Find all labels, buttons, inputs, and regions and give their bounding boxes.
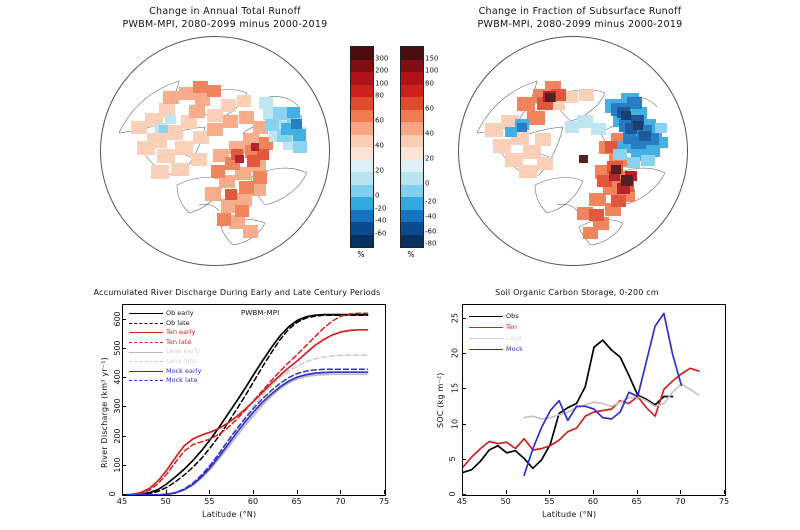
- colorbar-segment: [351, 135, 373, 148]
- cbtick: 80: [375, 93, 384, 100]
- ytick-mark: [462, 494, 466, 495]
- cbtick: -20: [375, 205, 386, 212]
- xaxis-label-soc: Latitude (°N): [542, 510, 596, 519]
- xtick-mark: [593, 490, 594, 494]
- xtick-mark: [549, 490, 550, 494]
- xtick-mark: [384, 490, 385, 494]
- xtick-mark: [724, 490, 725, 494]
- colorbar-segment: [401, 222, 423, 235]
- legend-label: Mock late: [166, 376, 197, 386]
- arctic-map-svg-subsurface: [459, 37, 687, 265]
- legend-item[interactable]: Lena late: [129, 357, 201, 367]
- xtick-label: 50: [161, 497, 171, 506]
- xtick-label: 70: [335, 497, 345, 506]
- arctic-map-svg-total-runoff: [101, 37, 329, 265]
- series-obs: [463, 340, 673, 472]
- xtick-label: 75: [379, 497, 389, 506]
- legend-label: Ten late: [166, 338, 191, 348]
- ytick-label: 10: [451, 419, 460, 429]
- colorbar-segment: [351, 185, 373, 198]
- xtick-mark: [209, 490, 210, 494]
- chart-title-river-discharge: Accumulated River Discharge During Early…: [87, 288, 387, 297]
- xaxis-label-river-discharge: Latitude (°N): [202, 510, 256, 519]
- colorbar-segment: [401, 172, 423, 185]
- colorbar-ticklabels-subsurface: 150 100 80 60 40 20 0 -20 -40 -60 -80: [425, 46, 451, 246]
- map-title-line1: Change in Fraction of Subsurface Runoff: [430, 6, 730, 19]
- colorbar-segment: [401, 97, 423, 110]
- xtick-label: 60: [248, 497, 258, 506]
- cbtick: -20: [425, 199, 436, 206]
- ytick-label: 15: [451, 383, 460, 393]
- legend-swatch-mock-early: [129, 371, 163, 372]
- series-lena: [524, 384, 699, 419]
- xtick-mark: [122, 490, 123, 494]
- colorbar-segment: [351, 147, 373, 160]
- series-mock: [524, 313, 681, 475]
- chart-river-discharge: Accumulated River Discharge During Early…: [92, 288, 392, 528]
- cbtick: -40: [375, 218, 386, 225]
- ytick-mark: [122, 348, 126, 349]
- ytick-mark: [122, 319, 126, 320]
- legend-river-discharge: Ob early Ob late Ten early Ten late Lena…: [129, 309, 201, 386]
- legend-item[interactable]: Ten: [469, 322, 523, 333]
- colorbar-segment: [351, 222, 373, 235]
- xtick-label: 45: [457, 497, 467, 506]
- colorbar-segment: [351, 72, 373, 85]
- colorbar-segment: [351, 197, 373, 210]
- colorbar-segment: [351, 235, 373, 248]
- ytick-label: 5: [448, 456, 457, 461]
- xtick-mark: [253, 490, 254, 494]
- chart-title-soc: Soil Organic Carbon Storage, 0-200 cm: [427, 288, 727, 297]
- legend-swatch-lena: [469, 338, 503, 339]
- cbtick: 60: [425, 105, 434, 112]
- legend-label: Ten early: [166, 328, 195, 338]
- colorbar-segment: [351, 122, 373, 135]
- map-title-line2: PWBM-MPI, 2080-2099 minus 2000-2019: [60, 19, 390, 32]
- colorbar-segment: [401, 60, 423, 73]
- ytick-label: 0: [448, 491, 457, 496]
- xtick-mark: [637, 490, 638, 494]
- colorbar-segment: [351, 160, 373, 173]
- colorbar-segment: [351, 97, 373, 110]
- legend-item[interactable]: Obs: [469, 311, 523, 322]
- chart-soil-organic-carbon: Soil Organic Carbon Storage, 0-200 cm SO…: [432, 288, 732, 528]
- ytick-mark: [462, 424, 466, 425]
- ytick-mark: [122, 377, 126, 378]
- colorbar-segment: [401, 122, 423, 135]
- legend-item[interactable]: Ob late: [129, 319, 201, 329]
- ytick-mark: [122, 436, 126, 437]
- legend-label: Lena: [506, 333, 522, 344]
- ytick-mark: [462, 318, 466, 319]
- chart-annotation-model: PWBM-MPI: [241, 309, 279, 317]
- colorbar-segment: [401, 72, 423, 85]
- cbtick: -40: [425, 214, 436, 221]
- map-title-total-runoff: Change in Annual Total Runoff PWBM-MPI, …: [60, 6, 390, 31]
- series-lena-early: [123, 374, 368, 495]
- legend-label: Lena early: [166, 347, 200, 357]
- colorbar-unit-subsurface: %: [400, 250, 422, 259]
- xtick-mark: [297, 490, 298, 494]
- cbtick: -60: [375, 230, 386, 237]
- ytick-mark: [122, 406, 126, 407]
- legend-item[interactable]: Ten late: [129, 338, 201, 348]
- ytick-label: 20: [451, 348, 460, 358]
- cbtick: -60: [425, 229, 436, 236]
- cbtick: 300: [375, 55, 388, 62]
- legend-item[interactable]: Mock early: [129, 367, 201, 377]
- map-panel-subsurface-fraction: Change in Fraction of Subsurface Runoff …: [400, 4, 740, 274]
- legend-item[interactable]: Mock: [469, 344, 523, 355]
- ytick-label: 100: [113, 457, 122, 472]
- cbtick: 60: [375, 118, 384, 125]
- xtick-label: 55: [544, 497, 554, 506]
- legend-item[interactable]: Lena early: [129, 347, 201, 357]
- map-title-line2: PWBM-MPI, 2080-2099 minus 2000-2019: [430, 19, 730, 32]
- ytick-label: 400: [113, 369, 122, 384]
- colorbar-unit-total-runoff: %: [350, 250, 372, 259]
- colorbar-total-runoff: [350, 46, 374, 248]
- legend-label: Ob late: [166, 319, 190, 329]
- legend-label: Mock early: [166, 367, 201, 377]
- arctic-globe-total-runoff: [100, 36, 330, 266]
- map-panel-total-runoff: Change in Annual Total Runoff PWBM-MPI, …: [60, 4, 390, 274]
- plot-area-soc: Obs Ten Lena Mock: [462, 304, 726, 496]
- legend-label: Mock: [506, 344, 523, 355]
- legend-swatch-ten-early: [129, 332, 163, 333]
- legend-swatch-mock-late: [129, 380, 163, 381]
- xtick-label: 60: [588, 497, 598, 506]
- ytick-mark: [122, 465, 126, 466]
- legend-swatch-ob-early: [129, 313, 163, 314]
- xtick-label: 45: [117, 497, 127, 506]
- map-title-subsurface: Change in Fraction of Subsurface Runoff …: [430, 6, 730, 31]
- ytick-label: 600: [113, 311, 122, 326]
- ytick-label: 200: [113, 428, 122, 443]
- legend-item[interactable]: Ten early: [129, 328, 201, 338]
- colorbar-segment: [351, 110, 373, 123]
- cbtick: 20: [425, 155, 434, 162]
- legend-item[interactable]: Ob early: [129, 309, 201, 319]
- cbtick: 100: [425, 68, 438, 75]
- xtick-label: 50: [501, 497, 511, 506]
- colorbar-segment: [401, 47, 423, 60]
- colorbar-subsurface-fraction: [400, 46, 424, 248]
- xtick-label: 70: [675, 497, 685, 506]
- legend-label: Ten: [506, 322, 517, 333]
- xtick-label: 55: [204, 497, 214, 506]
- legend-swatch-ten-late: [129, 342, 163, 343]
- xtick-label: 75: [719, 497, 729, 506]
- ytick-label: 500: [113, 340, 122, 355]
- xtick-label: 65: [632, 497, 642, 506]
- colorbar-segment: [401, 197, 423, 210]
- colorbar-segment: [401, 185, 423, 198]
- ytick-label: 300: [113, 399, 122, 414]
- legend-item[interactable]: Lena: [469, 333, 523, 344]
- colorbar-segment: [351, 60, 373, 73]
- colorbar-segment: [351, 47, 373, 60]
- legend-swatch-lena-late: [129, 361, 163, 362]
- xtick-mark: [340, 490, 341, 494]
- colorbar-segment: [351, 85, 373, 98]
- cbtick: 80: [425, 80, 434, 87]
- arctic-globe-subsurface: [458, 36, 688, 266]
- legend-label: Lena late: [166, 357, 196, 367]
- yaxis-label-river-discharge: River Discharge (km³ yr⁻¹): [100, 357, 109, 468]
- colorbar-segment: [401, 210, 423, 223]
- legend-item[interactable]: Mock late: [129, 376, 201, 386]
- ytick-mark: [122, 494, 126, 495]
- cbtick: 20: [375, 168, 384, 175]
- legend-swatch-ob-late: [129, 323, 163, 324]
- cbtick: 150: [425, 55, 438, 62]
- colorbar-segment: [401, 147, 423, 160]
- legend-swatch-obs: [469, 316, 503, 317]
- cbtick: 0: [425, 180, 429, 187]
- legend-label: Obs: [506, 311, 519, 322]
- xtick-mark: [506, 490, 507, 494]
- ytick-label: 0: [108, 491, 117, 496]
- colorbar-segment: [401, 85, 423, 98]
- series-ten: [463, 368, 699, 467]
- series-mock-early: [123, 372, 368, 495]
- plot-area-river-discharge: Ob early Ob late Ten early Ten late Lena…: [122, 304, 386, 496]
- yaxis-label-soc: SOC (kg m⁻²): [436, 372, 445, 428]
- legend-swatch-lena-early: [129, 352, 163, 353]
- colorbar-segment: [401, 160, 423, 173]
- xtick-mark: [680, 490, 681, 494]
- ytick-label: 25: [451, 313, 460, 323]
- xtick-mark: [166, 490, 167, 494]
- ytick-mark: [462, 388, 466, 389]
- legend-swatch-mock: [469, 349, 503, 350]
- xtick-label: 65: [292, 497, 302, 506]
- colorbar-segment: [351, 210, 373, 223]
- cbtick: 40: [375, 143, 384, 150]
- xtick-mark: [462, 490, 463, 494]
- colorbar-segment: [401, 235, 423, 248]
- legend-soc: Obs Ten Lena Mock: [469, 311, 523, 355]
- legend-label: Ob early: [166, 309, 194, 319]
- colorbar-segment: [401, 110, 423, 123]
- colorbar-ticklabels-total-runoff: 300 200 100 80 60 40 20 0 -20 -40 -60: [375, 46, 401, 246]
- ytick-mark: [462, 459, 466, 460]
- cbtick: 200: [375, 68, 388, 75]
- cbtick: -80: [425, 241, 436, 248]
- cbtick: 100: [375, 80, 388, 87]
- ytick-mark: [462, 353, 466, 354]
- colorbar-segment: [351, 172, 373, 185]
- map-title-line1: Change in Annual Total Runoff: [60, 6, 390, 19]
- cbtick: 0: [375, 193, 379, 200]
- legend-swatch-ten: [469, 327, 503, 328]
- colorbar-segment: [401, 135, 423, 148]
- cbtick: 40: [425, 130, 434, 137]
